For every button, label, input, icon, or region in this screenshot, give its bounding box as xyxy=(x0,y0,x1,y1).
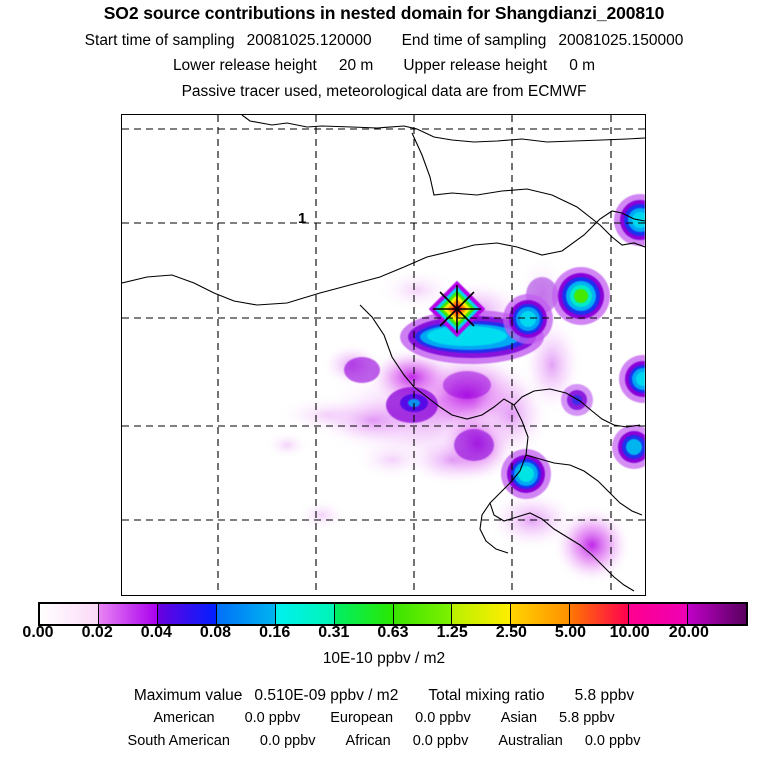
colorbar-tick-6: 0.63 xyxy=(377,624,408,642)
summary-line: Maximum value0.510E-09 ppbv / m2Total mi… xyxy=(0,687,768,705)
colorbar-tick-labels: 0.000.020.040.080.160.310.631.252.505.00… xyxy=(0,624,768,644)
region-label-american: American xyxy=(153,710,214,726)
colorbar-segment-0 xyxy=(40,604,99,624)
colorbar-tick-1: 0.02 xyxy=(82,624,113,642)
colorbar-tick-11: 20.00 xyxy=(669,624,709,642)
start-time-label: Start time of sampling xyxy=(85,32,235,49)
colorbar-tick-9: 5.00 xyxy=(555,624,586,642)
end-time-label: End time of sampling xyxy=(402,32,547,49)
region-row-2: South American0.0 ppbvAfrican0.0 ppbvAus… xyxy=(0,733,768,749)
lower-release-height-value: 20 m xyxy=(339,57,373,74)
region-label-asian: Asian xyxy=(501,710,537,726)
colorbar-tick-10: 10.00 xyxy=(610,624,650,642)
region-label-south-american: South American xyxy=(128,733,230,749)
upper-release-height-label: Upper release height xyxy=(403,57,547,74)
start-time-value: 20081025.120000 xyxy=(247,32,372,49)
colorbar-tick-8: 2.50 xyxy=(496,624,527,642)
plot-canvas: SO2 source contributions in nested domai… xyxy=(0,0,768,768)
region-row-1: American0.0 ppbvEuropean0.0 ppbvAsian5.8… xyxy=(0,710,768,726)
release-site-marker-layer xyxy=(122,115,645,595)
end-time-value: 20081025.150000 xyxy=(558,32,683,49)
max-value-label: Maximum value xyxy=(134,687,243,704)
colorbar-unit-label: 10E-10 ppbv / m2 xyxy=(0,650,768,668)
max-value: 0.510E-09 ppbv / m2 xyxy=(254,687,398,704)
region-value-african: 0.0 ppbv xyxy=(413,733,469,749)
colorbar-segment-6 xyxy=(394,604,453,624)
colorbar-segment-5 xyxy=(335,604,394,624)
release-site-star-icon xyxy=(433,285,481,333)
colorbar-segment-10 xyxy=(629,604,688,624)
region-value-asian: 5.8 ppbv xyxy=(559,710,615,726)
colorbar-segment-7 xyxy=(452,604,511,624)
page-title: SO2 source contributions in nested domai… xyxy=(0,3,768,24)
region-value-australian: 0.0 ppbv xyxy=(585,733,641,749)
region-label-african: African xyxy=(346,733,391,749)
lower-release-height-label: Lower release height xyxy=(173,57,317,74)
colorbar-tick-2: 0.04 xyxy=(141,624,172,642)
colorbar-tick-3: 0.08 xyxy=(200,624,231,642)
colorbar-segment-1 xyxy=(99,604,158,624)
region-label-australian: Australian xyxy=(498,733,562,749)
colorbar-tick-0: 0.00 xyxy=(22,624,53,642)
region-label-european: European xyxy=(330,710,393,726)
region-value-south-american: 0.0 ppbv xyxy=(260,733,316,749)
release-height-line: Lower release height20 mUpper release he… xyxy=(0,57,768,75)
colorbar-segment-4 xyxy=(276,604,335,624)
map-plot-area: 1 xyxy=(121,114,646,596)
tracer-note: Passive tracer used, meteorological data… xyxy=(0,83,768,101)
region-value-european: 0.0 ppbv xyxy=(415,710,471,726)
colorbar xyxy=(38,602,748,626)
colorbar-segment-3 xyxy=(217,604,276,624)
sampling-time-line: Start time of sampling20081025.120000End… xyxy=(0,32,768,50)
total-mixing-ratio-label: Total mixing ratio xyxy=(428,687,544,704)
upper-release-height-value: 0 m xyxy=(569,57,595,74)
total-mixing-ratio-value: 5.8 ppbv xyxy=(575,687,634,704)
colorbar-segment-2 xyxy=(158,604,217,624)
gridline-label: 1 xyxy=(298,210,306,227)
colorbar-segment-9 xyxy=(570,604,629,624)
region-value-american: 0.0 ppbv xyxy=(245,710,301,726)
colorbar-tick-5: 0.31 xyxy=(318,624,349,642)
colorbar-tick-7: 1.25 xyxy=(437,624,468,642)
colorbar-segment-8 xyxy=(511,604,570,624)
colorbar-segment-11 xyxy=(688,604,746,624)
colorbar-tick-4: 0.16 xyxy=(259,624,290,642)
